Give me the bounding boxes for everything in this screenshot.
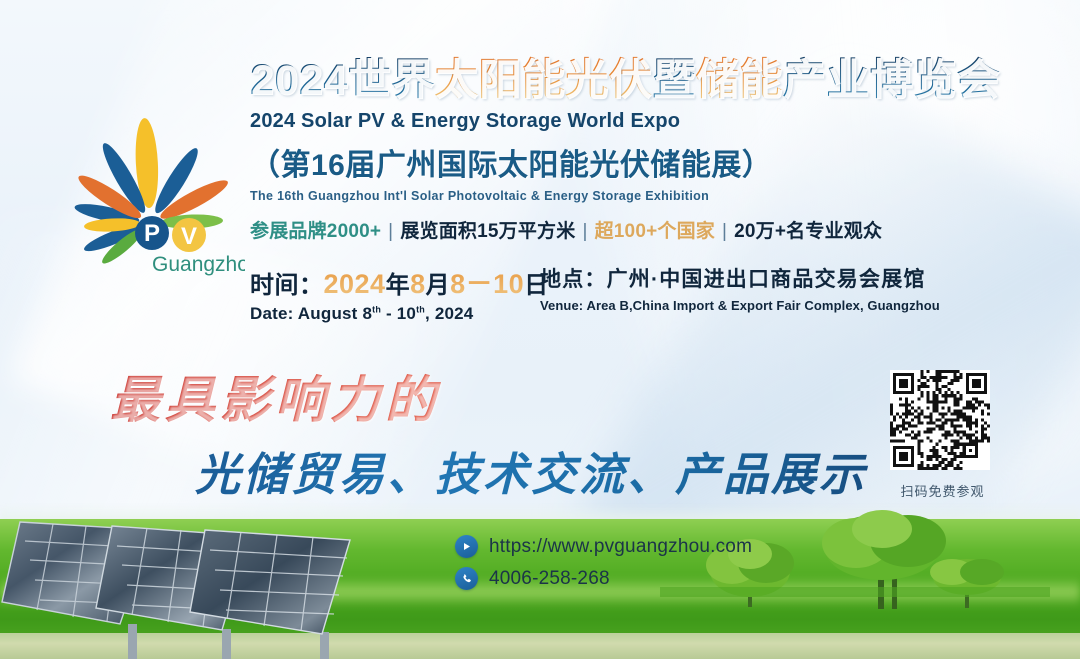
- title-english: 2024 Solar PV & Energy Storage World Exp…: [250, 110, 1050, 133]
- date-month-unit: 月: [426, 272, 451, 299]
- stat-separator-3: |: [715, 221, 734, 242]
- date-en-sup2: th: [416, 304, 425, 314]
- venue-chinese: 地点：广州·中国进出口商品交易会展馆: [540, 263, 940, 293]
- phone-circle-icon: [455, 567, 478, 590]
- venue-block: 地点：广州·中国进出口商品交易会展馆 Venue: Area B,China I…: [540, 262, 940, 313]
- svg-text:Guangzhou: Guangzhou: [152, 253, 245, 276]
- website-row[interactable]: https://www.pvguangzhou.com: [455, 535, 752, 558]
- date-en-mid: - 10: [381, 304, 416, 323]
- svg-text:V: V: [181, 223, 197, 250]
- date-year: 2024: [324, 269, 386, 299]
- qr-code-image[interactable]: [890, 370, 990, 470]
- venue-label: 地点：: [540, 268, 607, 291]
- solar-panel-array: [0, 484, 470, 659]
- phone-number[interactable]: 4006-258-268: [489, 568, 610, 590]
- date-month: 8: [410, 269, 426, 299]
- subtitle-chinese: （第16届广州国际太阳能光伏储能展）: [250, 140, 1050, 184]
- svg-text:P: P: [144, 220, 160, 247]
- event-details-row: 时间：2024年8月8－10日 Date: August 8th - 10th,…: [250, 262, 1050, 324]
- title-segment-2: 太阳能光伏: [435, 56, 653, 104]
- date-chinese: 时间：2024年8月8－10日: [250, 262, 540, 301]
- stat-visitors: 20万+名专业观众: [734, 221, 882, 242]
- title-segment-1: 2024世界: [250, 56, 435, 104]
- title-segment-5: 产业博览会: [783, 56, 1001, 104]
- date-year-unit: 年: [386, 272, 411, 299]
- stat-separator-1: |: [381, 221, 400, 242]
- date-en-prefix: Date: August 8: [250, 304, 372, 323]
- stat-separator-2: |: [575, 221, 594, 242]
- stat-countries: 超100+个国家: [595, 221, 715, 242]
- stats-strip: 参展品牌2000+|展览面积15万平方米|超100+个国家|20万+名专业观众: [250, 216, 1050, 243]
- date-en-sup1: th: [372, 304, 381, 314]
- date-block: 时间：2024年8月8－10日 Date: August 8th - 10th,…: [250, 262, 540, 324]
- pv-guangzhou-logo: P V Guangzhou: [55, 95, 245, 280]
- date-english: Date: August 8th - 10th, 2024: [250, 304, 540, 324]
- date-label: 时间：: [250, 272, 324, 299]
- date-en-suffix: , 2024: [425, 304, 473, 323]
- play-circle-icon: [455, 535, 478, 558]
- phone-row[interactable]: 4006-258-268: [455, 567, 752, 590]
- venue-name-cn: 广州·中国进出口商品交易会展馆: [607, 268, 926, 291]
- title-segment-3: 暨: [652, 56, 696, 104]
- title-segment-4: 储能: [696, 56, 783, 104]
- contact-block: https://www.pvguangzhou.com 4006-258-268: [455, 535, 752, 599]
- stat-area: 展览面积15万平方米: [400, 221, 575, 242]
- expo-poster: P V Guangzhou 2024世界太阳能光伏暨储能产业博览会 2024 S…: [0, 0, 1080, 659]
- date-days: 8－10: [450, 269, 524, 299]
- stat-brands: 参展品牌2000+: [250, 221, 381, 242]
- tagline-line-1: 最具影响力的: [110, 360, 870, 432]
- page-title: 2024世界太阳能光伏暨储能产业博览会: [250, 58, 1050, 104]
- venue-english: Venue: Area B,China Import & Export Fair…: [540, 298, 940, 313]
- header-block: 2024世界太阳能光伏暨储能产业博览会 2024 Solar PV & Ener…: [250, 58, 1050, 243]
- subtitle-english: The 16th Guangzhou Int'l Solar Photovolt…: [250, 189, 1050, 203]
- website-url[interactable]: https://www.pvguangzhou.com: [489, 536, 752, 558]
